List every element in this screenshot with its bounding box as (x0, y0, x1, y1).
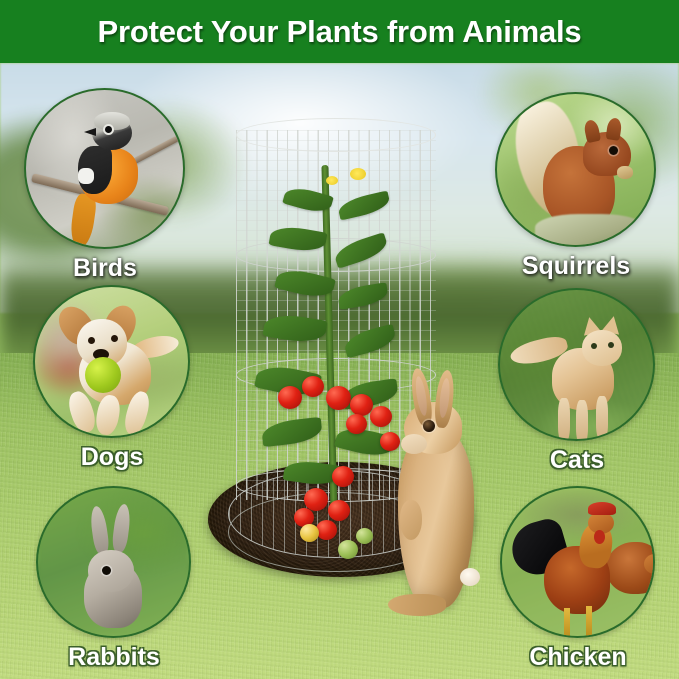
feature-circle-birds[interactable]: Birds (24, 88, 186, 294)
dog-eye-left (88, 337, 95, 344)
bird-eye (105, 126, 112, 133)
header-banner: Protect Your Plants from Animals (0, 0, 679, 63)
circle-label-birds: Birds (24, 254, 186, 283)
circle-label-chicken: Chicken (500, 643, 656, 672)
dogs-photo (33, 285, 190, 438)
page-title: Protect Your Plants from Animals (98, 14, 582, 50)
cat-leg (596, 396, 608, 440)
tomato-flower (326, 176, 338, 185)
rabbit-foot (388, 594, 446, 616)
feature-circle-rabbits[interactable]: Rabbits (36, 486, 192, 679)
tomato-fruit-unripe (300, 524, 319, 542)
tomato-fruit-green (338, 540, 358, 559)
circle-label-dogs: Dogs (33, 443, 191, 472)
chicken-photo (500, 486, 655, 638)
bird-beak (84, 128, 96, 136)
feature-circle-cats[interactable]: Cats (498, 288, 656, 488)
cat-head (582, 330, 622, 366)
rooster-comb (588, 502, 616, 515)
tomato-fruit-green (356, 528, 373, 544)
circle-label-rabbits: Rabbits (36, 643, 192, 672)
rabbit-eating-tomato (384, 372, 488, 622)
circle-label-cats: Cats (498, 446, 656, 475)
product-infographic-poster: Protect Your Plants from Animals (0, 0, 679, 679)
tomato-fruit (278, 386, 302, 409)
rabbit-eye (423, 420, 435, 432)
squirrel-perch (535, 214, 645, 247)
rooster-leg (564, 608, 570, 638)
bird-cap (94, 112, 130, 130)
cage-hoop-top (236, 118, 436, 152)
rabbit-paw (400, 500, 422, 540)
rabbit-photo-eye (102, 566, 111, 575)
product-scene (198, 0, 498, 616)
tomato-fruit (316, 520, 337, 540)
cat-eye-right (608, 342, 614, 348)
rabbit-tail (460, 568, 480, 586)
cats-photo (498, 288, 655, 441)
rabbit-photo-head (88, 550, 134, 592)
feature-circle-squirrels[interactable]: Squirrels (495, 92, 657, 298)
tomato-fruit (332, 466, 354, 487)
rabbit-muzzle (401, 434, 427, 454)
dog-eye-right (111, 335, 118, 342)
squirrels-photo (495, 92, 656, 247)
rooster-leg (586, 606, 592, 636)
tomato-fruit (302, 376, 324, 397)
tomato-flower (350, 168, 366, 180)
squirrel-nut (617, 166, 633, 179)
tomato-fruit (328, 500, 350, 521)
tomato-fruit (326, 386, 351, 410)
cat-leg (576, 400, 588, 441)
feature-circle-chicken[interactable]: Chicken (500, 486, 656, 679)
rabbits-photo (36, 486, 191, 638)
squirrel-eye (609, 146, 618, 155)
birds-photo (24, 88, 185, 249)
bird-wing-bar (78, 168, 94, 184)
tomato-fruit (346, 414, 367, 434)
rooster-wattle (594, 530, 605, 544)
dog-toy-ball (85, 357, 121, 393)
cat-leg (558, 398, 570, 441)
circle-label-squirrels: Squirrels (495, 252, 657, 281)
feature-circle-dogs[interactable]: Dogs (33, 285, 191, 485)
tomato-fruit (304, 488, 328, 511)
cat-eye-left (591, 343, 597, 349)
